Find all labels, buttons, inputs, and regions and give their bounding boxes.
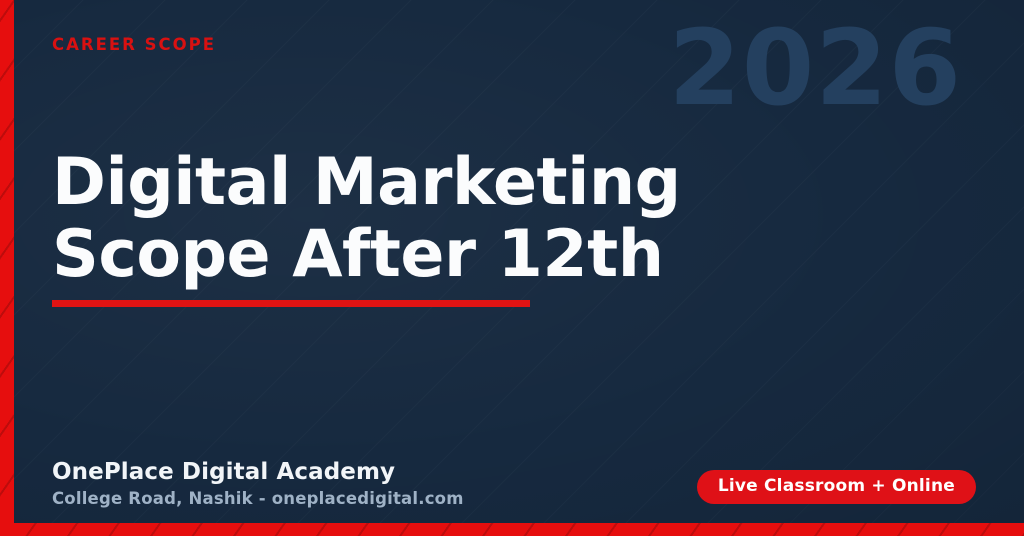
status-badge[interactable]: Live Classroom + Online [697, 470, 976, 504]
organization-name: OnePlace Digital Academy [52, 458, 464, 486]
year-watermark: 2026 [669, 16, 962, 120]
footer-block: OnePlace Digital Academy College Road, N… [52, 458, 464, 509]
organization-address-website: College Road, Nashik - oneplacedigital.c… [52, 489, 464, 509]
page-title: Digital Marketing Scope After 12th [52, 147, 681, 291]
headline-line-2: Scope After 12th [52, 219, 681, 291]
bottom-red-accent-bar [0, 523, 1024, 536]
left-red-accent-bar [0, 0, 14, 536]
title-underline-rule [52, 300, 530, 307]
headline-line-1: Digital Marketing [52, 147, 681, 219]
eyebrow-label: CAREER SCOPE [52, 35, 216, 54]
career-scope-banner: 2026 CAREER SCOPE Digital Marketing Scop… [0, 0, 1024, 536]
